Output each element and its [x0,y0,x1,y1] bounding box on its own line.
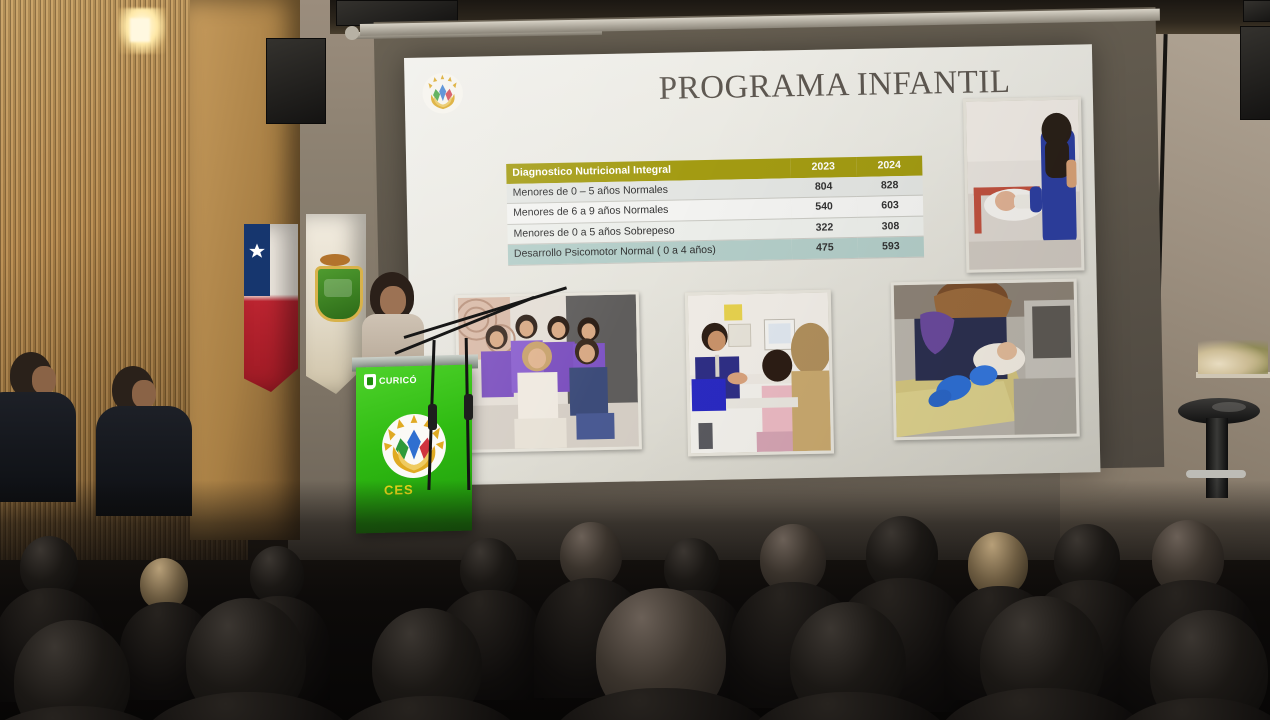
row-value-2023: 475 [792,238,858,260]
row-value-2024: 828 [856,175,922,196]
row-value-2024: 308 [857,216,923,238]
podium-logo-icon [380,411,448,481]
flag-chile-star-icon [248,242,266,260]
photo-child-consultation [685,289,834,456]
presenter-face [380,286,406,316]
photo-infant-measurement [963,96,1084,272]
microphone-clip-right [464,394,473,420]
flag-chile-canton [244,224,270,296]
ceiling-speaker-right-icon [1243,0,1270,22]
slide-logo-icon [420,71,465,116]
presenter-at-podium [360,272,426,368]
row-value-2024: 603 [857,195,923,217]
conference-hall-scene: PROGRAMA INFANTIL Diagnostico Nutriciona… [0,0,1270,720]
nutrition-table: Diagnostico Nutricional Integral 2023 20… [506,156,924,266]
flag-chile [244,224,298,392]
flag-crest-top [320,254,350,266]
podium-brand: CURICÓ [364,371,460,390]
row-value-2023: 322 [791,217,857,239]
row-value-2024: 593 [858,236,924,258]
wall-light-fixture [118,8,166,54]
table-header-2023: 2023 [790,157,856,178]
table-header-2024: 2024 [856,156,922,177]
row-value-2023: 540 [791,197,857,219]
microphone-clip-left [428,404,437,430]
shelf-decoration [1198,340,1268,374]
bar-stool-footrest [1186,470,1246,478]
flag-crest [315,266,363,322]
curico-shield-icon [364,373,376,388]
photo-newborn-care [891,279,1080,441]
wall-speaker-right-icon [1240,26,1270,120]
wall-speaker-left-icon [266,38,326,124]
row-value-2023: 804 [790,176,856,197]
audience-silhouettes [0,480,1270,720]
row-label: Desarrollo Psicomotor Normal ( 0 a 4 año… [508,239,792,265]
podium-brand-text: CURICÓ [379,375,417,386]
screen-mount-knob [345,26,359,40]
projected-slide: PROGRAMA INFANTIL Diagnostico Nutriciona… [404,44,1100,486]
